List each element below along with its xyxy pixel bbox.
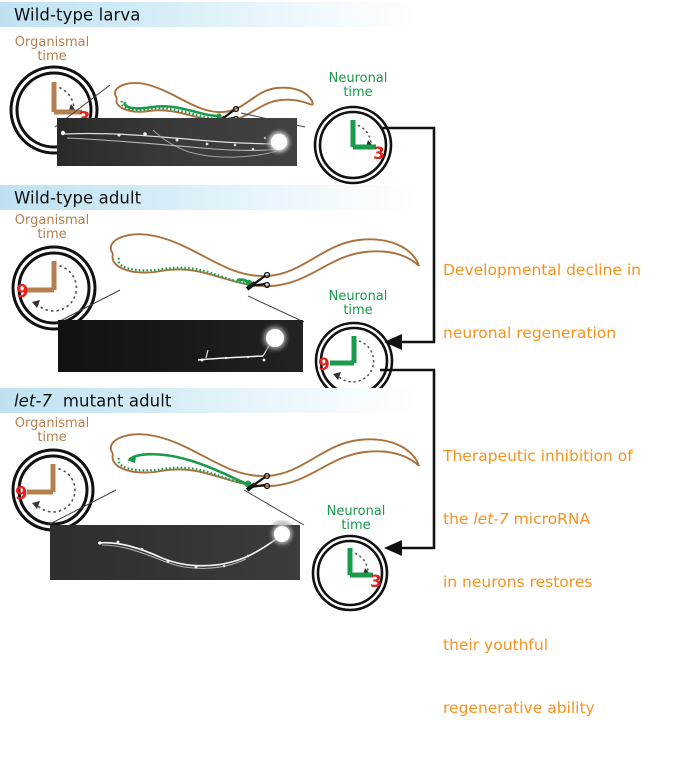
clock-number-neuronal-2: 9 bbox=[318, 355, 330, 375]
panel-title-let7-mutant-adult: let-7 mutant adult bbox=[14, 391, 171, 410]
annotation-developmental-decline: Developmental decline in neuronal regene… bbox=[443, 218, 641, 386]
annotation-therapeutic-inhibition: Therapeutic inhibition of the let-7 micr… bbox=[443, 404, 633, 761]
clock-number-organismal-2: 9 bbox=[16, 281, 29, 302]
annotation-2-line-1: Therapeutic inhibition of bbox=[443, 446, 633, 467]
connector-path-2 bbox=[380, 370, 434, 548]
micrograph-wild-type-adult bbox=[58, 320, 303, 372]
worm-outline-top-2 bbox=[111, 234, 419, 276]
organismal-time-line2-3: time bbox=[4, 431, 100, 445]
arrowhead-icon-1 bbox=[384, 334, 402, 350]
organismal-time-line2: time bbox=[4, 50, 100, 64]
panel-title-wild-type-adult: Wild-type adult bbox=[14, 188, 141, 207]
leader-lines-3 bbox=[48, 490, 308, 528]
neuronal-time-line1: Neuronal bbox=[310, 72, 406, 86]
neuronal-time-line2: time bbox=[310, 86, 406, 100]
annotation-2-line-2-pre: the bbox=[443, 510, 473, 528]
organismal-time-label-3: Organismal time bbox=[4, 417, 100, 445]
annotation-2-line-2: the let-7 microRNA bbox=[443, 509, 633, 530]
annotation-2-line-4: their youthful bbox=[443, 635, 633, 656]
annotation-1-line-2: neuronal regeneration bbox=[443, 323, 641, 344]
connector-bracket-larva-to-adult bbox=[378, 120, 448, 360]
organismal-time-line1-3: Organismal bbox=[4, 417, 100, 431]
connector-bracket-adult-to-mutant bbox=[378, 362, 448, 562]
panel-header-wild-type-adult: Wild-type adult bbox=[0, 185, 420, 210]
panel-title-rest: mutant adult bbox=[63, 391, 172, 410]
panel-header-wild-type-larva: Wild-type larva bbox=[0, 2, 420, 27]
arrowhead-icon-2 bbox=[384, 540, 402, 556]
panel-title-italic-gene: let-7 bbox=[14, 391, 52, 410]
micrograph-let7-mutant-adult bbox=[50, 525, 300, 580]
clock-number-neuronal-3: 3 bbox=[370, 572, 382, 592]
organismal-time-line1-2: Organismal bbox=[4, 214, 100, 228]
neuronal-time-label-1: Neuronal time bbox=[310, 72, 406, 100]
micrograph-wild-type-larva bbox=[57, 118, 297, 166]
panel-title-wild-type-larva: Wild-type larva bbox=[14, 5, 141, 24]
annotation-2-gene-italic: let-7 bbox=[473, 510, 508, 528]
organismal-time-line1: Organismal bbox=[4, 36, 100, 50]
organismal-time-label-2: Organismal time bbox=[4, 214, 100, 242]
organismal-time-label-1: Organismal time bbox=[4, 36, 100, 64]
connector-path-1 bbox=[380, 128, 434, 342]
annotation-1-line-1: Developmental decline in bbox=[443, 260, 641, 281]
annotation-2-line-2-post: microRNA bbox=[509, 510, 590, 528]
figure-root: Wild-type larva Organismal time Neuronal… bbox=[0, 0, 675, 606]
organismal-time-line2-2: time bbox=[4, 228, 100, 242]
clock-number-organismal-3: 9 bbox=[15, 483, 28, 504]
annotation-2-line-3: in neurons restores bbox=[443, 572, 633, 593]
panel-header-let7-mutant-adult: let-7 mutant adult bbox=[0, 388, 420, 413]
annotation-2-line-5: regenerative ability bbox=[443, 698, 633, 719]
